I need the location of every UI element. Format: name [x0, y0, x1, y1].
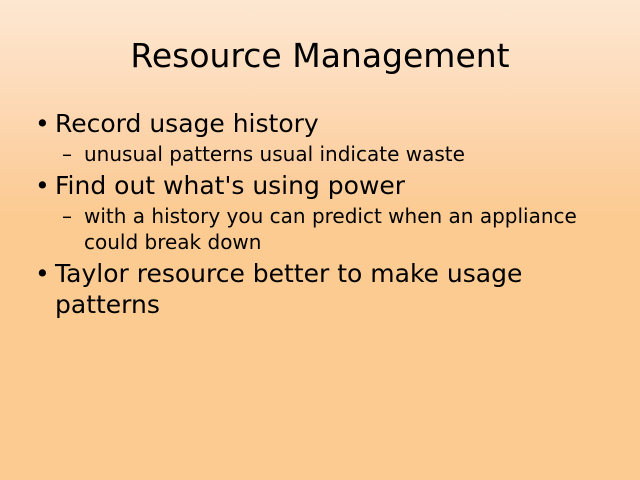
list-item-label: Find out what's using power — [55, 170, 612, 201]
sub-outline-list: – unusual patterns usual indicate waste — [56, 141, 612, 167]
sub-list-wrapper: – with a history you can predict when an… — [30, 203, 612, 255]
list-item-label: Taylor resource better to make usage pat… — [55, 258, 612, 320]
page-title: Resource Management — [0, 36, 640, 76]
bullet-dash-icon: – — [62, 203, 72, 229]
sub-outline-list: – with a history you can predict when an… — [56, 203, 612, 255]
list-item: • Find out what's using power — [30, 170, 612, 201]
list-item: – unusual patterns usual indicate waste — [56, 141, 612, 167]
bullet-dash-icon: – — [62, 141, 72, 167]
list-item-label: Record usage history — [55, 108, 612, 139]
list-item: • Record usage history — [30, 108, 612, 139]
list-item-label: unusual patterns usual indicate waste — [84, 141, 612, 167]
outline-list: • Record usage history – unusual pattern… — [30, 108, 612, 320]
bullet-dot-icon: • — [35, 258, 50, 289]
list-item-label: with a history you can predict when an a… — [84, 203, 612, 255]
list-item: – with a history you can predict when an… — [56, 203, 612, 255]
list-item: • Taylor resource better to make usage p… — [30, 258, 612, 320]
presentation-slide: Resource Management • Record usage histo… — [0, 0, 640, 480]
bullet-dot-icon: • — [35, 108, 50, 139]
sub-list-wrapper: – unusual patterns usual indicate waste — [30, 141, 612, 167]
bullet-dot-icon: • — [35, 170, 50, 201]
slide-body-content: • Record usage history – unusual pattern… — [30, 108, 612, 321]
